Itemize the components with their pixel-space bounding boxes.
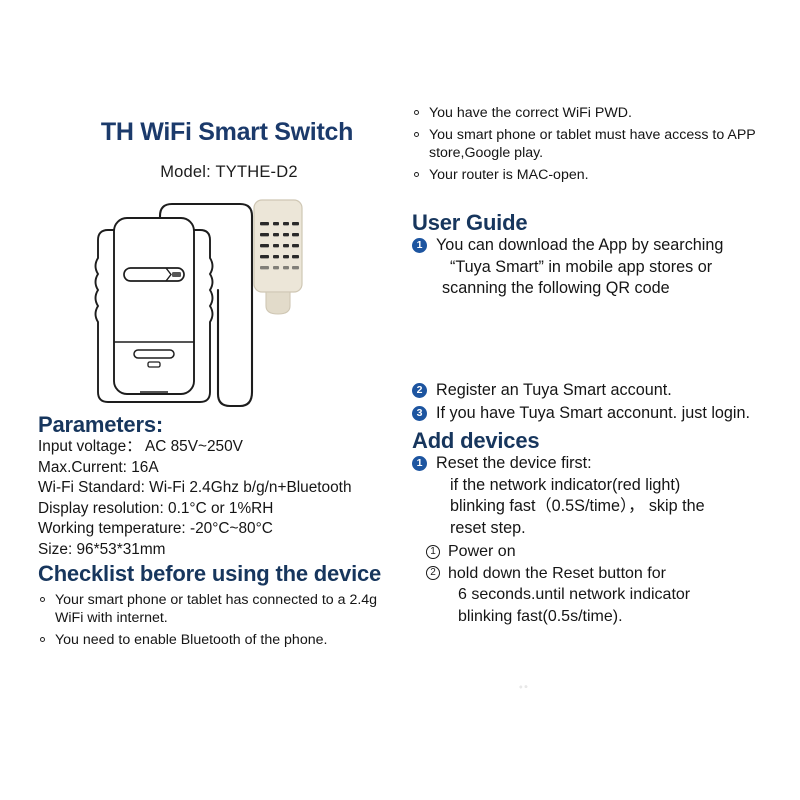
spec-line: Size: 96*53*31mm <box>38 540 398 561</box>
substep-number-badge: 2 <box>426 566 440 580</box>
step-line: If you have Tuya Smart acconunt. just lo… <box>436 403 774 425</box>
step-number-badge: 1 <box>412 238 427 253</box>
model-label: Model: <box>160 163 211 181</box>
parameters-list: Input voltage： AC 85V~250V Max.Current: … <box>38 437 398 560</box>
right-column: You have the correct WiFi PWD. You smart… <box>412 100 774 627</box>
spec-line: Max.Current: 16A <box>38 458 398 479</box>
bullet-icon <box>40 597 45 602</box>
checklist-items: Your smart phone or tablet has connected… <box>38 591 398 650</box>
user-guide-heading: User Guide <box>412 210 774 235</box>
bullet-icon <box>40 637 45 642</box>
list-item: Your router is MAC-open. <box>412 166 774 185</box>
add-devices-substep-1: 1 Power on <box>426 541 774 563</box>
list-item: Your smart phone or tablet has connected… <box>38 591 398 628</box>
substep-line: blinking fast(0.5s/time). <box>448 606 774 628</box>
user-guide-step-1: 1 You can download the App by searching … <box>412 235 774 300</box>
spec-line: Display resolution: 0.1°C or 1%RH <box>38 499 398 520</box>
model-value: TYTHE-D2 <box>215 163 297 181</box>
step-line: You can download the App by searching <box>436 235 774 257</box>
list-item-text: You have the correct WiFi PWD. <box>429 105 632 121</box>
step-line: Reset the device first: <box>436 453 774 475</box>
bullet-icon <box>414 132 419 137</box>
add-devices-heading: Add devices <box>412 428 774 453</box>
step-number-badge: 3 <box>412 406 427 421</box>
step-line: blinking fast（0.5S/time）， skip the <box>436 496 774 518</box>
substep-line: 6 seconds.until network indicator <box>448 584 774 606</box>
user-guide-step-3: 3 If you have Tuya Smart acconunt. just … <box>412 403 774 425</box>
model-line: Model: TYTHE-D2 <box>38 163 398 182</box>
step-number-badge: 1 <box>412 456 427 471</box>
scan-artifact <box>516 682 532 693</box>
list-item-text: You smart phone or tablet must have acce… <box>429 127 756 162</box>
product-illustration <box>92 196 342 436</box>
step-line: Register an Tuya Smart account. <box>436 380 774 402</box>
list-item-text: Your router is MAC-open. <box>429 167 589 183</box>
list-item: You have the correct WiFi PWD. <box>412 104 774 123</box>
step-line: reset step. <box>436 518 774 540</box>
spec-line: Wi-Fi Standard: Wi-Fi 2.4Ghz b/g/n+Bluet… <box>38 478 398 499</box>
requirements-items: You have the correct WiFi PWD. You smart… <box>412 104 774 184</box>
list-item: You smart phone or tablet must have acce… <box>412 126 774 163</box>
substep-line: hold down the Reset button for <box>448 565 666 582</box>
step-line: if the network indicator(red light) <box>436 475 774 497</box>
substep-number-badge: 1 <box>426 545 440 559</box>
product-info-sheet: TH WiFi Smart Switch Model: TYTHE-D2 Par… <box>0 0 800 800</box>
page-title: TH WiFi Smart Switch <box>38 118 398 147</box>
list-item-text: You need to enable Bluetooth of the phon… <box>55 632 327 648</box>
step-number-badge: 2 <box>412 383 427 398</box>
spec-line: Working temperature: -20°C~80°C <box>38 519 398 540</box>
checklist-heading: Checklist before using the device <box>38 561 398 586</box>
add-devices-substep-2: 2 hold down the Reset button for 6 secon… <box>426 563 774 628</box>
bullet-icon <box>414 110 419 115</box>
add-devices-step-1: 1 Reset the device first: if the network… <box>412 453 774 539</box>
step-line: scanning the following QR code <box>436 278 774 300</box>
spec-line: Input voltage： AC 85V~250V <box>38 437 398 458</box>
step-line: “Tuya Smart” in mobile app stores or <box>436 257 774 279</box>
list-item: You need to enable Bluetooth of the phon… <box>38 631 398 650</box>
user-guide-step-2: 2 Register an Tuya Smart account. <box>412 380 774 402</box>
bullet-icon <box>414 172 419 177</box>
list-item-text: Your smart phone or tablet has connected… <box>55 592 377 627</box>
substep-line: Power on <box>448 543 516 560</box>
